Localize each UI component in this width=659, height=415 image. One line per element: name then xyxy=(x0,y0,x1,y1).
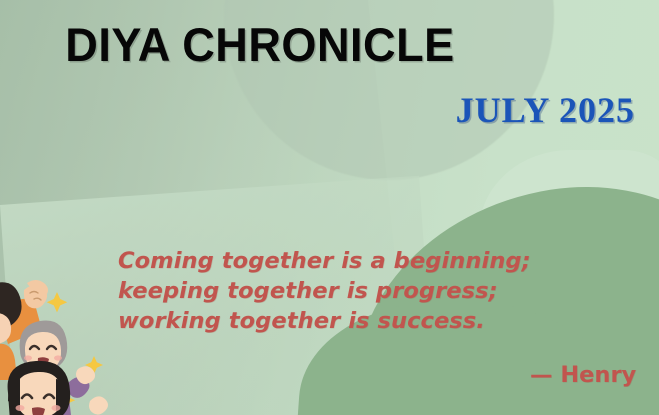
raised-hand xyxy=(89,396,108,414)
quote-block: Coming together is a beginning; keeping … xyxy=(118,246,618,336)
issue-date: JULY 2025 xyxy=(456,89,635,131)
person-front-bob-hair xyxy=(8,361,71,415)
quote-attribution: — Henry xyxy=(530,362,636,388)
cheering-crowd-illustration xyxy=(0,265,129,415)
newsletter-poster: DIYA CHRONICLE JULY 2025 Coming together… xyxy=(0,0,659,415)
quote-line-3: working together is success. xyxy=(118,306,618,336)
quote-line-2: keeping together is progress; xyxy=(118,276,618,306)
quote-line-1: Coming together is a beginning; xyxy=(118,246,618,276)
page-title: DIYA CHRONICLE xyxy=(10,17,509,72)
sparkle-icon xyxy=(47,292,67,312)
